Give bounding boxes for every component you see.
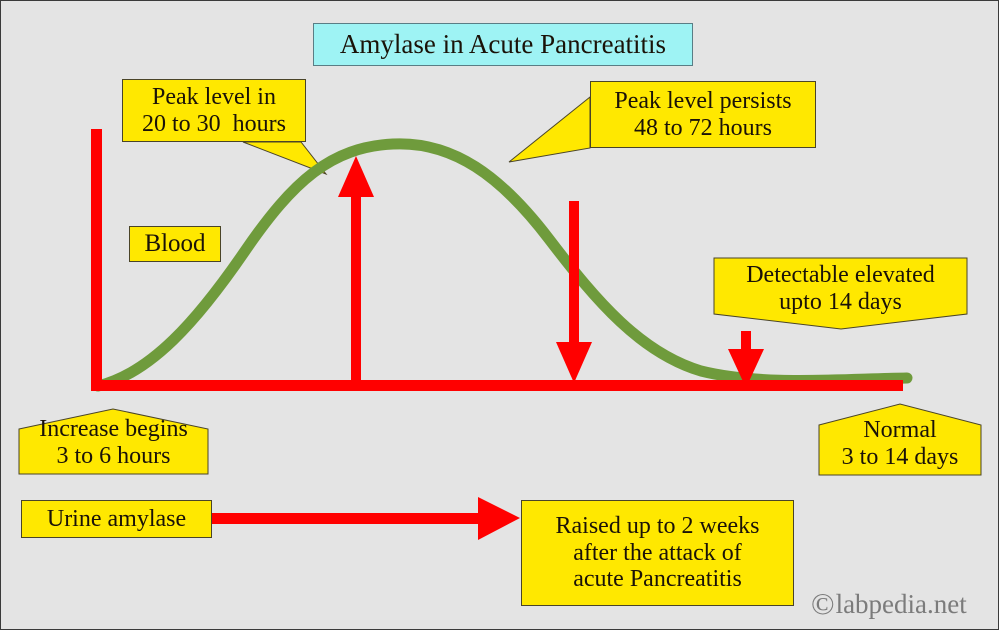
peak-persists-line-1: Peak level persists	[614, 88, 791, 115]
peak-up-arrow	[338, 156, 374, 385]
detectable-line-1: Detectable elevated	[746, 262, 935, 289]
peak-persists-callout-tail	[509, 97, 590, 162]
urine-amylase-arrow	[212, 497, 520, 540]
detectable-line-2: upto 14 days	[779, 289, 902, 316]
callout-raised: Raised up to 2 weeks after the attack of…	[521, 500, 794, 606]
copyright-icon: ©	[811, 586, 835, 622]
callout-peak-level: Peak level in 20 to 30 hours	[122, 79, 306, 142]
page-title: Amylase in Acute Pancreatitis	[313, 23, 693, 66]
callout-detectable: Detectable elevated upto 14 days	[714, 258, 967, 318]
title-text: Amylase in Acute Pancreatitis	[340, 29, 666, 59]
callout-peak-persists: Peak level persists 48 to 72 hours	[590, 81, 816, 148]
normal-line-1: Normal	[863, 417, 936, 444]
normal-line-2: 3 to 14 days	[842, 444, 959, 471]
watermark: © labpedia.net	[811, 586, 967, 622]
raised-line-1: Raised up to 2 weeks	[556, 513, 760, 540]
callout-increase-begins: Increase begins 3 to 6 hours	[19, 418, 208, 473]
callout-urine-amylase: Urine amylase	[21, 500, 212, 538]
urine-amylase-label: Urine amylase	[47, 506, 186, 533]
x-axis	[91, 380, 903, 391]
amylase-diagram: Amylase in Acute Pancreatitis Peak level…	[0, 0, 999, 630]
raised-line-3: acute Pancreatitis	[573, 566, 742, 593]
raised-line-2: after the attack of	[573, 540, 742, 567]
increase-begins-line-1: Increase begins	[39, 416, 188, 443]
callout-blood: Blood	[129, 226, 221, 262]
peak-persists-line-2: 48 to 72 hours	[634, 115, 772, 142]
y-axis	[91, 129, 102, 387]
peak-level-line-1: Peak level in	[152, 84, 276, 111]
watermark-text: labpedia.net	[836, 589, 967, 620]
increase-begins-line-2: 3 to 6 hours	[57, 443, 171, 470]
callout-normal: Normal 3 to 14 days	[819, 413, 981, 475]
peak-level-line-2: 20 to 30 hours	[142, 111, 286, 138]
blood-label: Blood	[144, 230, 205, 258]
